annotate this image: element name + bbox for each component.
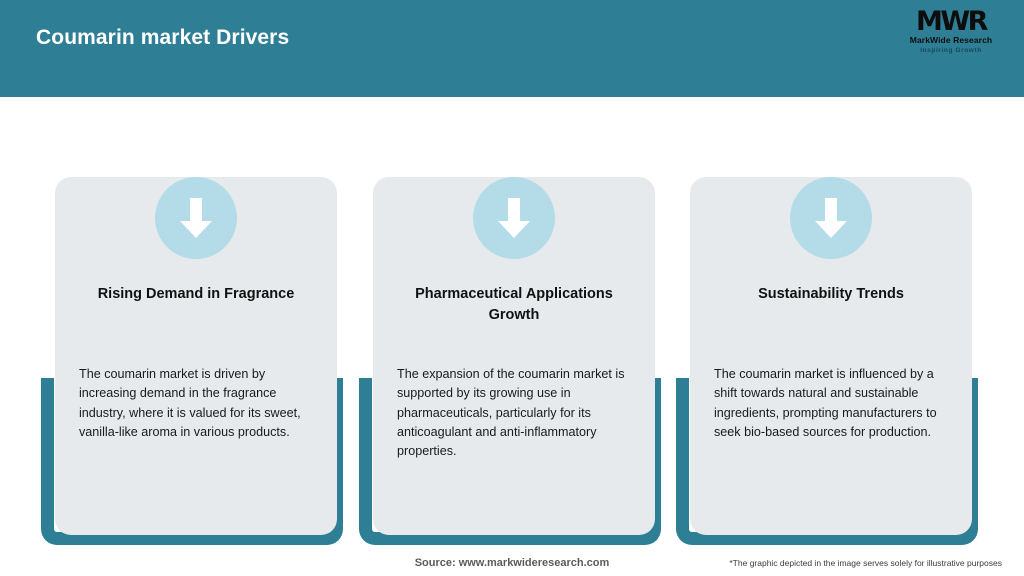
- card-body: The expansion of the coumarin market is …: [397, 365, 641, 461]
- logo-tagline: Inspiring Growth: [896, 46, 1006, 55]
- driver-card[interactable]: Sustainability Trends The coumarin marke…: [690, 177, 972, 535]
- card-title: Pharmaceutical Applications Growth: [389, 284, 639, 326]
- driver-card[interactable]: Pharmaceutical Applications Growth The e…: [373, 177, 655, 535]
- disclaimer-label: *The graphic depicted in the image serve…: [729, 558, 1002, 568]
- card-title: Rising Demand in Fragrance: [71, 284, 321, 305]
- down-arrow-icon: [473, 177, 555, 259]
- card-body: The coumarin market is influenced by a s…: [714, 365, 958, 442]
- page-title: Coumarin market Drivers: [36, 26, 289, 50]
- logo-company-name: MarkWide Research: [896, 35, 1006, 46]
- down-arrow-icon: [790, 177, 872, 259]
- card-body: The coumarin market is driven by increas…: [79, 365, 323, 442]
- logo-monogram: MWR: [896, 8, 1006, 35]
- company-logo: MWR MarkWide Research Inspiring Growth: [896, 8, 1006, 58]
- card-title: Sustainability Trends: [706, 284, 956, 305]
- down-arrow-icon: [155, 177, 237, 259]
- driver-card[interactable]: Rising Demand in Fragrance The coumarin …: [55, 177, 337, 535]
